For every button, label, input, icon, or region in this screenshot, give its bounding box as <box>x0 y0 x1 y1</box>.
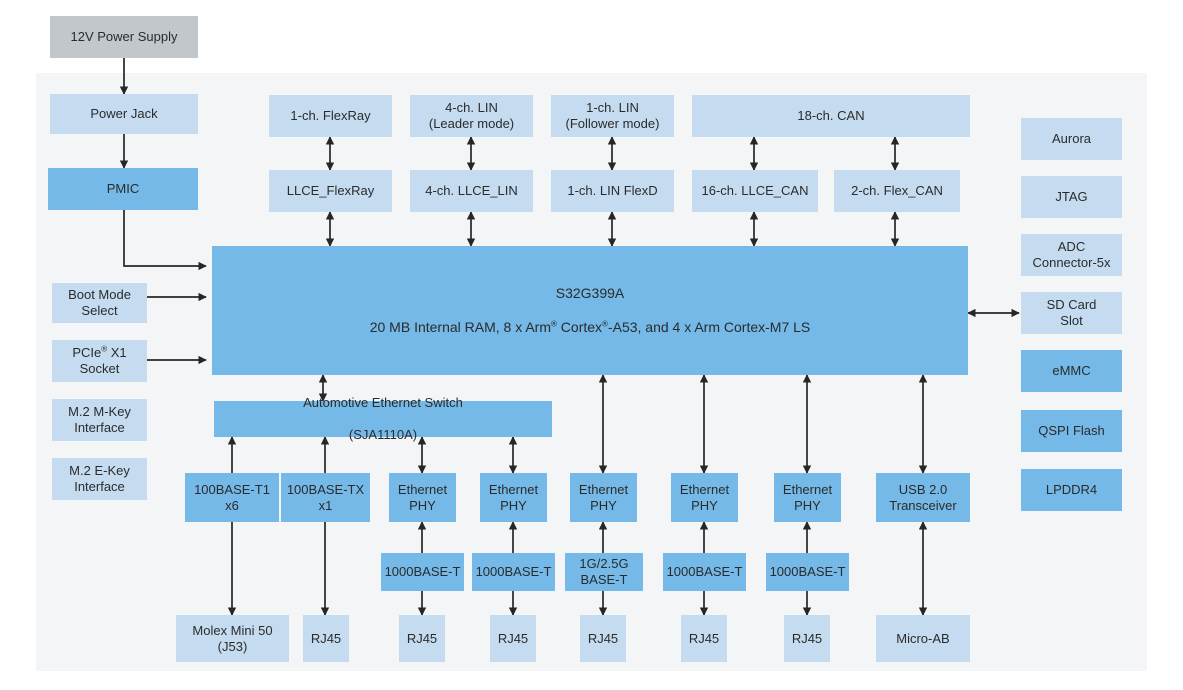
switch-name: Automotive Ethernet Switch <box>303 395 463 411</box>
switch-partnum: (SJA1110A) <box>303 427 463 443</box>
block-label: RJ45 <box>689 631 719 647</box>
block-label: Ethernet PHY <box>783 482 832 514</box>
block-ethernet-phy-3[interactable]: Ethernet PHY <box>570 473 637 522</box>
block-ethernet-phy-1[interactable]: Ethernet PHY <box>389 473 456 522</box>
block-label: eMMC <box>1052 363 1090 379</box>
block-2ch-flex-can[interactable]: 2-ch. Flex_CAN <box>834 170 960 212</box>
block-label: RJ45 <box>588 631 618 647</box>
block-label: 100BASE-T1 x6 <box>194 482 270 514</box>
block-label: 1G/2.5G BASE-T <box>579 556 628 588</box>
block-rj45-3[interactable]: RJ45 <box>490 615 536 662</box>
block-label: Ethernet PHY <box>680 482 729 514</box>
block-1ch-lin-follower[interactable]: 1-ch. LIN (Follower mode) <box>551 95 674 137</box>
block-16ch-llce-can[interactable]: 16-ch. LLCE_CAN <box>692 170 818 212</box>
block-1000base-t-2[interactable]: 1000BASE-T <box>472 553 555 591</box>
block-diagram-canvas: 12V Power Supply Power Jack PMIC Boot Mo… <box>0 0 1183 690</box>
block-label: RJ45 <box>407 631 437 647</box>
block-1000base-t-3[interactable]: 1000BASE-T <box>663 553 746 591</box>
block-rj45-1[interactable]: RJ45 <box>303 615 349 662</box>
block-pmic[interactable]: PMIC <box>48 168 198 210</box>
soc-label: S32G399A20 MB Internal RAM, 8 x Arm® Cor… <box>370 285 811 336</box>
block-power-jack[interactable]: Power Jack <box>50 94 198 134</box>
block-label: LLCE_FlexRay <box>287 183 374 199</box>
block-ethernet-phy-4[interactable]: Ethernet PHY <box>671 473 738 522</box>
block-1ch-flexray[interactable]: 1-ch. FlexRay <box>269 95 392 137</box>
block-label: Ethernet PHY <box>489 482 538 514</box>
block-label: 1000BASE-T <box>385 564 461 580</box>
block-label: M.2 E-Key Interface <box>69 463 130 495</box>
block-molex-mini-50-j53[interactable]: Molex Mini 50 (J53) <box>176 615 289 662</box>
block-emmc[interactable]: eMMC <box>1021 350 1122 392</box>
block-rj45-4[interactable]: RJ45 <box>580 615 626 662</box>
block-label: JTAG <box>1055 189 1087 205</box>
block-boot-mode-select[interactable]: Boot Mode Select <box>52 283 147 323</box>
switch-label: Automotive Ethernet Switch(SJA1110A) <box>303 395 463 443</box>
block-label: SD Card Slot <box>1047 297 1097 329</box>
block-1000base-t-4[interactable]: 1000BASE-T <box>766 553 849 591</box>
block-label: 1-ch. FlexRay <box>290 108 370 124</box>
block-12v-power-supply[interactable]: 12V Power Supply <box>50 16 198 58</box>
block-jtag[interactable]: JTAG <box>1021 176 1122 218</box>
block-label: PMIC <box>107 181 140 197</box>
block-label: Ethernet PHY <box>579 482 628 514</box>
block-label: USB 2.0 Transceiver <box>889 482 956 514</box>
block-label: 2-ch. Flex_CAN <box>851 183 943 199</box>
block-qspi-flash[interactable]: QSPI Flash <box>1021 410 1122 452</box>
block-label: RJ45 <box>792 631 822 647</box>
block-lpddr4[interactable]: LPDDR4 <box>1021 469 1122 511</box>
block-label: M.2 M-Key Interface <box>68 404 131 436</box>
block-adc-connector-5x[interactable]: ADC Connector-5x <box>1021 234 1122 276</box>
block-m2-e-key-interface[interactable]: M.2 E-Key Interface <box>52 458 147 500</box>
block-label: 18-ch. CAN <box>797 108 864 124</box>
block-label: 1-ch. LIN FlexD <box>567 183 657 199</box>
block-label: Molex Mini 50 (J53) <box>192 623 272 655</box>
block-ethernet-phy-5[interactable]: Ethernet PHY <box>774 473 841 522</box>
block-label: PCIe® X1Socket <box>72 345 126 377</box>
block-label: 100BASE-TX x1 <box>287 482 364 514</box>
block-pcie-x1-socket[interactable]: PCIe® X1Socket <box>52 340 147 382</box>
block-100base-tx-x1[interactable]: 100BASE-TX x1 <box>281 473 370 522</box>
block-label: Aurora <box>1052 131 1091 147</box>
block-label: LPDDR4 <box>1046 482 1097 498</box>
block-aurora[interactable]: Aurora <box>1021 118 1122 160</box>
block-sd-card-slot[interactable]: SD Card Slot <box>1021 292 1122 334</box>
block-rj45-2[interactable]: RJ45 <box>399 615 445 662</box>
block-100base-t1-x6[interactable]: 100BASE-T1 x6 <box>185 473 279 522</box>
block-rj45-6[interactable]: RJ45 <box>784 615 830 662</box>
block-ethernet-phy-2[interactable]: Ethernet PHY <box>480 473 547 522</box>
block-1000base-t-1[interactable]: 1000BASE-T <box>381 553 464 591</box>
block-label: 12V Power Supply <box>71 29 178 45</box>
soc-description: 20 MB Internal RAM, 8 x Arm® Cortex®-A53… <box>370 319 811 336</box>
block-label: ADC Connector-5x <box>1032 239 1110 271</box>
block-1g-2-5g-base-t[interactable]: 1G/2.5G BASE-T <box>565 553 643 591</box>
block-label: 1000BASE-T <box>770 564 846 580</box>
block-label: 4-ch. LIN (Leader mode) <box>429 100 514 132</box>
block-18ch-can[interactable]: 18-ch. CAN <box>692 95 970 137</box>
block-label: 1000BASE-T <box>667 564 743 580</box>
block-rj45-5[interactable]: RJ45 <box>681 615 727 662</box>
block-label: 16-ch. LLCE_CAN <box>702 183 809 199</box>
block-label: Micro-AB <box>896 631 949 647</box>
block-s32g399a-soc[interactable]: S32G399A20 MB Internal RAM, 8 x Arm® Cor… <box>212 246 968 375</box>
block-1ch-lin-flexd[interactable]: 1-ch. LIN FlexD <box>551 170 674 212</box>
block-4ch-llce-lin[interactable]: 4-ch. LLCE_LIN <box>410 170 533 212</box>
block-label: 1-ch. LIN (Follower mode) <box>566 100 660 132</box>
block-m2-m-key-interface[interactable]: M.2 M-Key Interface <box>52 399 147 441</box>
block-label: 4-ch. LLCE_LIN <box>425 183 518 199</box>
block-label: Boot Mode Select <box>68 287 131 319</box>
block-label: Power Jack <box>90 106 157 122</box>
block-label: RJ45 <box>311 631 341 647</box>
block-label: Ethernet PHY <box>398 482 447 514</box>
block-label: RJ45 <box>498 631 528 647</box>
soc-part-number: S32G399A <box>370 285 811 302</box>
block-label: QSPI Flash <box>1038 423 1104 439</box>
block-automotive-ethernet-switch[interactable]: Automotive Ethernet Switch(SJA1110A) <box>214 401 552 437</box>
block-usb-2-0-transceiver[interactable]: USB 2.0 Transceiver <box>876 473 970 522</box>
block-4ch-lin-leader[interactable]: 4-ch. LIN (Leader mode) <box>410 95 533 137</box>
block-label: 1000BASE-T <box>476 564 552 580</box>
block-llce-flexray[interactable]: LLCE_FlexRay <box>269 170 392 212</box>
block-micro-ab[interactable]: Micro-AB <box>876 615 970 662</box>
